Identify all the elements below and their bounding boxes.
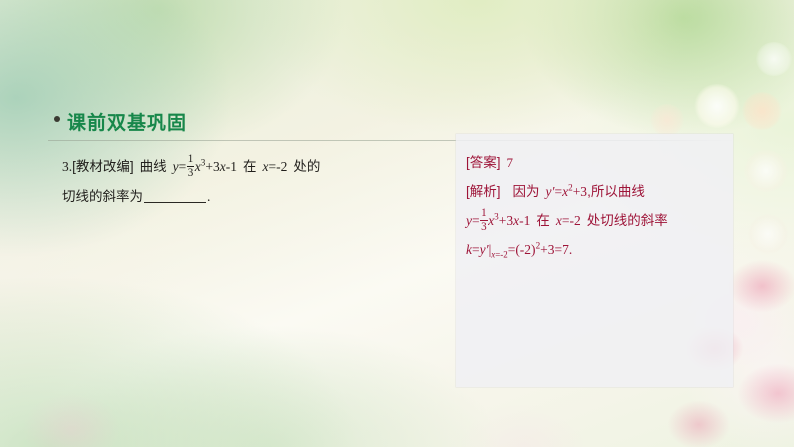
final-plus-three: +3 bbox=[540, 242, 554, 257]
formula-equals: = bbox=[179, 159, 187, 174]
final-equals-3: = bbox=[555, 242, 563, 257]
solution-lead-text: 因为 bbox=[513, 184, 540, 199]
curve-equals: = bbox=[472, 213, 480, 228]
bullet-dot-icon bbox=[54, 116, 60, 122]
bokeh-circle-icon bbox=[742, 92, 782, 130]
fraction-numerator: 1 bbox=[480, 208, 488, 219]
formula-plus-three: +3 bbox=[205, 159, 219, 174]
fraction-denominator: 3 bbox=[480, 222, 488, 233]
curve-minus-one: -1 bbox=[519, 213, 530, 228]
fraction-numerator: 1 bbox=[187, 154, 195, 165]
solution-tail-text: 处切线的斜率 bbox=[587, 213, 668, 228]
bokeh-circle-icon bbox=[748, 214, 788, 254]
answer-blank[interactable] bbox=[144, 202, 206, 203]
answer-line: [答案]7 bbox=[466, 148, 728, 177]
point-value: -2 bbox=[276, 159, 287, 174]
question-tail-text: 处的 bbox=[293, 159, 320, 174]
page-title: 课前双基巩固 bbox=[67, 108, 187, 135]
bokeh-circle-icon bbox=[650, 104, 684, 136]
section-header: 课前双基巩固 bbox=[0, 52, 794, 94]
curve-fraction-one-third: 13 bbox=[480, 208, 488, 233]
formula-fraction-one-third: 13 bbox=[187, 154, 195, 179]
solution-line-1: [解析]因为y′=x2+3,所以曲线 bbox=[466, 177, 728, 206]
question-line-1: 3.[教材改编]曲线y=13x3+3x-1在x=-2处的 bbox=[62, 152, 422, 182]
question-period: . bbox=[207, 189, 210, 204]
derivative-plus-three: +3 bbox=[573, 184, 587, 199]
question-number: 3. bbox=[62, 159, 72, 174]
formula-minus-one: -1 bbox=[226, 159, 237, 174]
answer-value: 7 bbox=[507, 155, 514, 170]
question-at-text: 在 bbox=[243, 159, 257, 174]
solution-point-equals: = bbox=[562, 213, 570, 228]
solution-point-value: -2 bbox=[570, 213, 581, 228]
curve-plus-three: +3 bbox=[499, 213, 513, 228]
final-period: . bbox=[569, 242, 572, 257]
solution-at-text: 在 bbox=[536, 213, 550, 228]
fraction-denominator: 3 bbox=[187, 168, 195, 179]
question-line-2: 切线的斜率为. bbox=[62, 182, 422, 212]
point-equals: = bbox=[269, 159, 277, 174]
final-result: 7 bbox=[562, 242, 569, 257]
final-sub-value: -2 bbox=[500, 250, 507, 260]
question-lead-text: 曲线 bbox=[140, 159, 167, 174]
question-source-tag: [教材改编] bbox=[72, 159, 134, 174]
final-paren-term: (-2) bbox=[515, 242, 535, 257]
answer-tag: [答案] bbox=[466, 155, 501, 170]
solution-comma-text: ,所以曲线 bbox=[587, 184, 645, 199]
slide-canvas: 课前双基巩固 3.[教材改编]曲线y=13x3+3x-1在x=-2处的 切线的斜… bbox=[0, 0, 794, 447]
derivative-equals: = bbox=[554, 184, 562, 199]
solution-tag: [解析] bbox=[466, 184, 501, 199]
question-block: 3.[教材改编]曲线y=13x3+3x-1在x=-2处的 切线的斜率为. bbox=[62, 152, 422, 212]
final-equals-1: = bbox=[472, 242, 480, 257]
question-line2-text: 切线的斜率为 bbox=[62, 189, 143, 204]
answer-panel: [答案]7 [解析]因为y′=x2+3,所以曲线 y=13x3+3x-1在x=-… bbox=[456, 134, 733, 387]
solution-line-3: k=y′|x=-2=(-2)2+3=7. bbox=[466, 235, 728, 264]
solution-line-2: y=13x3+3x-1在x=-2处切线的斜率 bbox=[466, 206, 728, 235]
bokeh-circle-icon bbox=[744, 150, 788, 192]
answer-content: [答案]7 [解析]因为y′=x2+3,所以曲线 y=13x3+3x-1在x=-… bbox=[466, 148, 728, 264]
